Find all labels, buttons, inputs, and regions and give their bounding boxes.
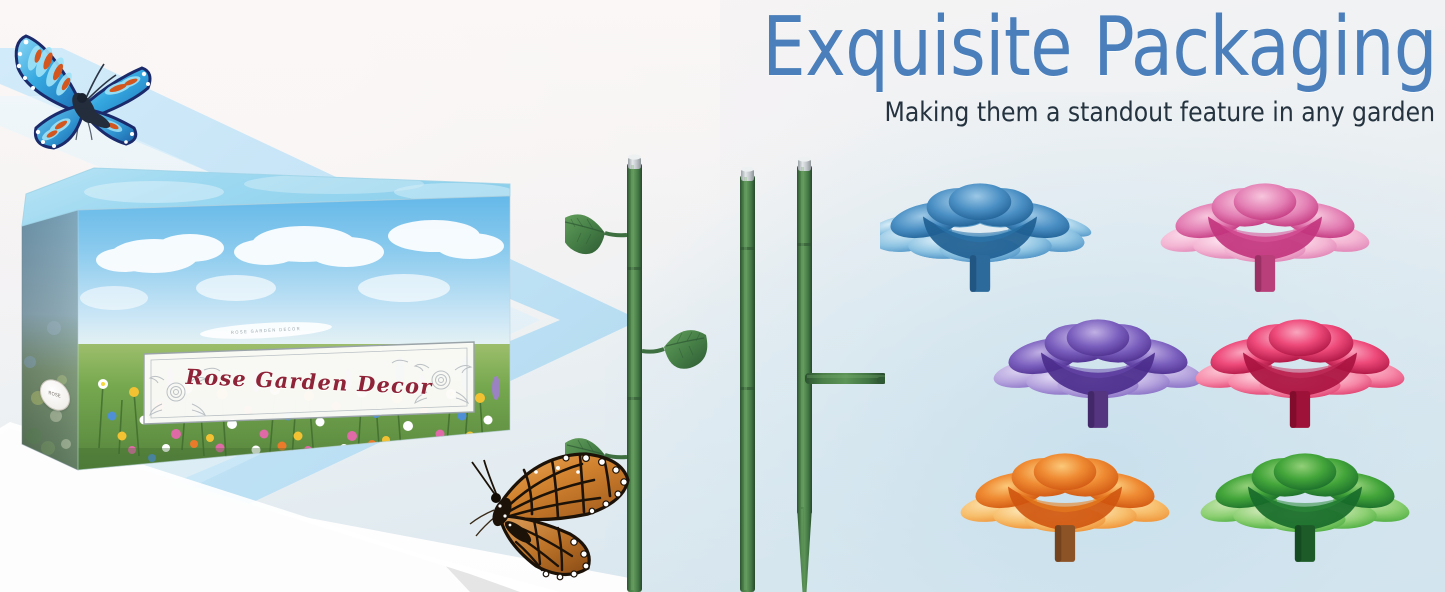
box-label-panel: Rose Garden Decor xyxy=(144,344,474,418)
product-banner: Rose Garden Decor ROSE GARDEN DECOR ROSE xyxy=(0,0,1445,592)
box-label-text: Rose Garden Decor xyxy=(144,337,474,425)
butterfly-monarch xyxy=(462,432,642,592)
flower-purple xyxy=(991,319,1204,428)
flower-green xyxy=(1198,453,1411,562)
product-box: Rose Garden Decor ROSE GARDEN DECOR ROSE xyxy=(4,148,544,478)
flower-blue-layers xyxy=(880,183,1087,292)
flower-pink xyxy=(1158,183,1371,292)
lid-oval-text: ROSE GARDEN DECOR xyxy=(231,326,301,335)
flower-group xyxy=(880,170,1445,590)
pole-plain xyxy=(740,166,755,592)
page-title: Exquisite Packaging xyxy=(628,2,1437,94)
box-seal-text: ROSE xyxy=(49,390,61,400)
page-subtitle: Making them a standout feature in any ga… xyxy=(593,96,1437,130)
pole-stake xyxy=(797,156,885,592)
flower-orange xyxy=(958,453,1171,562)
flower-rose xyxy=(1193,319,1406,428)
butterfly-blue xyxy=(2,6,162,161)
headline-block: Exquisite Packaging Making them a stando… xyxy=(567,2,1437,130)
